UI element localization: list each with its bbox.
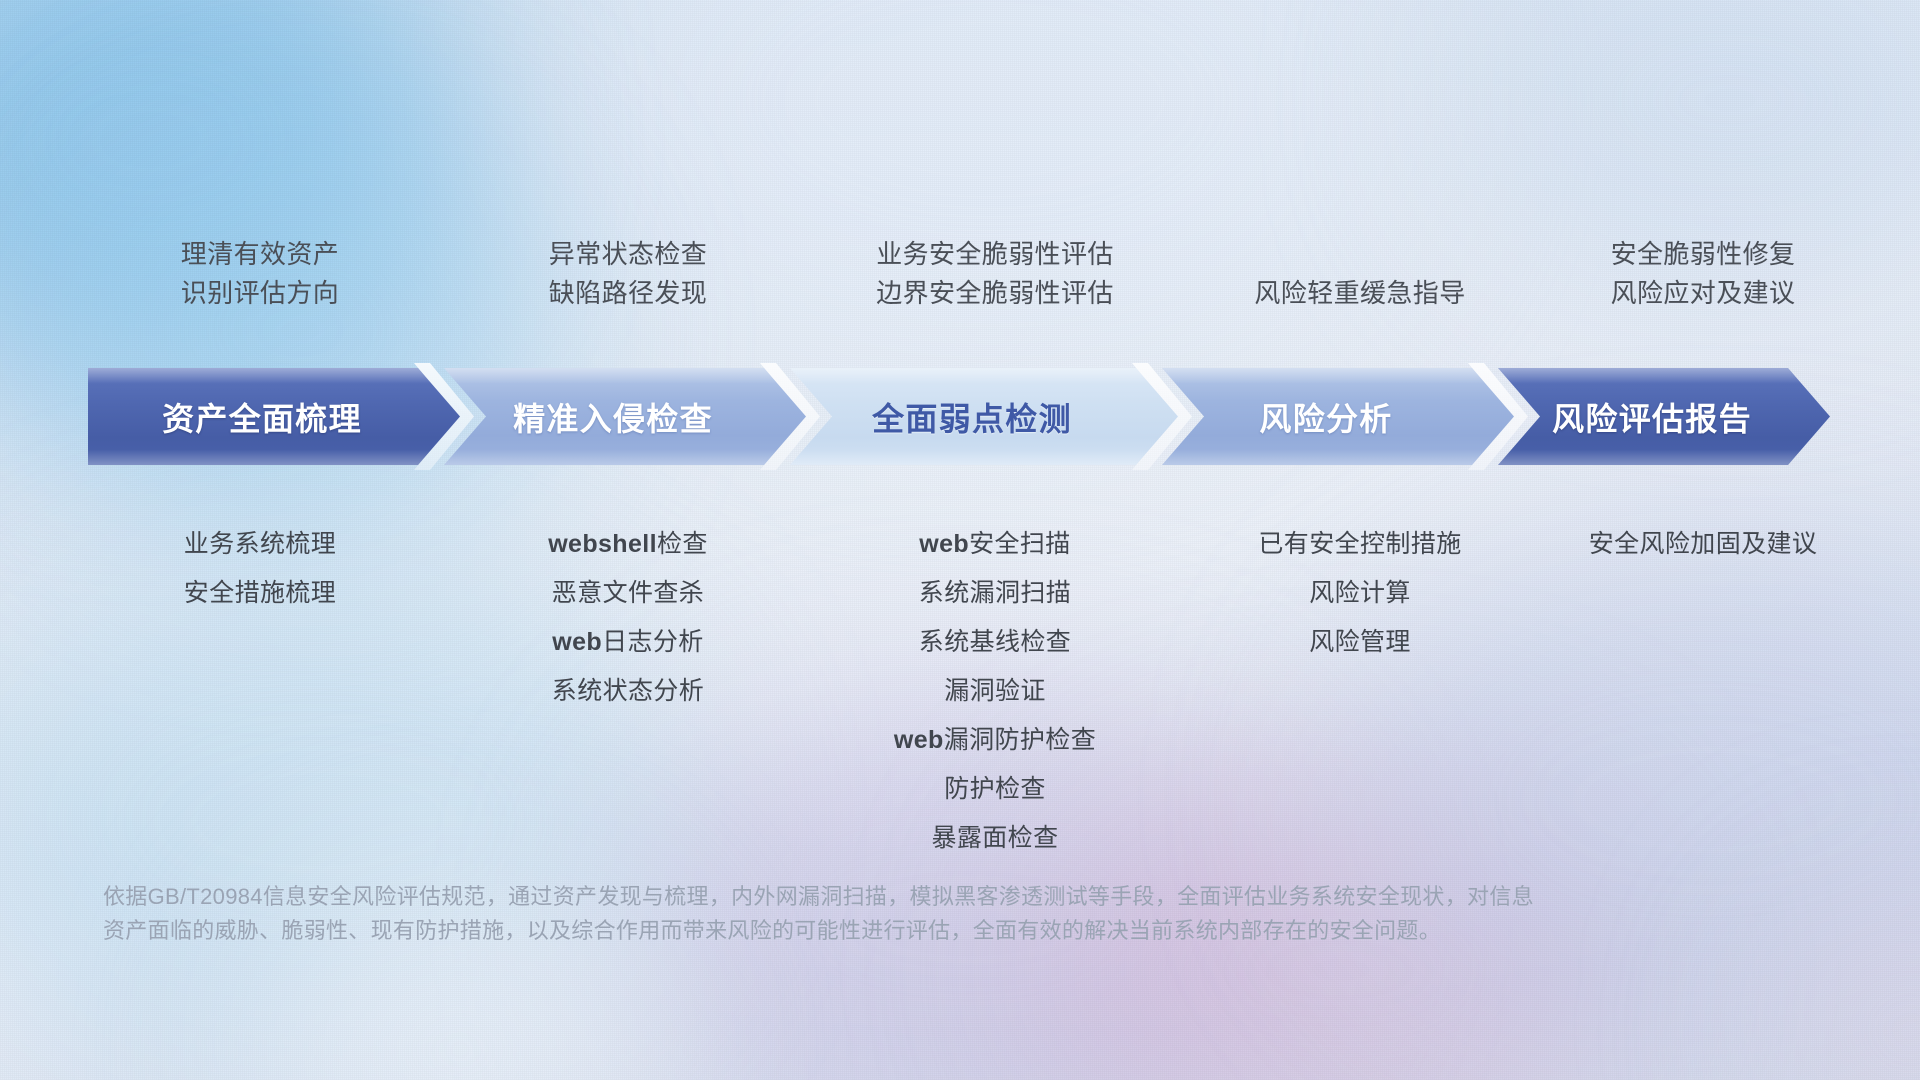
arrow-label: 全面弱点检测 (872, 394, 1072, 440)
process-arrow-intrusion-check[interactable]: 精准入侵检查 (444, 368, 806, 465)
list-item: 风险管理 (1184, 618, 1536, 667)
footer-description: 依据GB/T20984信息安全风险评估规范，通过资产发现与梳理，内外网漏洞扫描，… (103, 880, 1743, 948)
arrow-label: 精准入侵检查 (513, 394, 713, 440)
stage-top-notes-3: 业务安全脆弱性评估 边界安全脆弱性评估 (806, 235, 1184, 313)
process-arrow-risk-report[interactable]: 风险评估报告 (1498, 368, 1830, 465)
process-arrow-band: 资产全面梳理 精准入侵检查 全面弱点检测 风险分析 风险评估报告 (88, 368, 1854, 465)
arrow-label: 风险评估报告 (1552, 394, 1752, 440)
list-item: 系统状态分析 (450, 667, 806, 716)
list-item: webshell检查 (450, 520, 806, 569)
list-item: 漏洞验证 (806, 667, 1184, 716)
stage-top-note: 风险应对及建议 (1536, 274, 1870, 313)
process-arrow-risk-analysis[interactable]: 风险分析 (1162, 368, 1514, 465)
stage-detail-list-4: 已有安全控制措施 风险计算 风险管理 (1184, 520, 1536, 667)
list-item: 恶意文件查杀 (450, 569, 806, 618)
stage-top-note: 识别评估方向 (70, 274, 450, 313)
footer-line: 依据GB/T20984信息安全风险评估规范，通过资产发现与梳理，内外网漏洞扫描，… (103, 880, 1743, 914)
stage-top-notes-4: 风险轻重缓急指导 (1184, 274, 1536, 313)
stage-detail-list-5: 安全风险加固及建议 (1536, 520, 1870, 569)
stage-detail-list-1: 业务系统梳理 安全措施梳理 (70, 520, 450, 618)
list-item: 系统基线检查 (806, 618, 1184, 667)
stage-detail-list-3: web安全扫描 系统漏洞扫描 系统基线检查 漏洞验证 web漏洞防护检查 防护检… (806, 520, 1184, 863)
list-item: 防护检查 (806, 765, 1184, 814)
stage-detail-list-2: webshell检查 恶意文件查杀 web日志分析 系统状态分析 (450, 520, 806, 716)
list-item: web日志分析 (450, 618, 806, 667)
list-item: 业务系统梳理 (70, 520, 450, 569)
stage-top-note: 缺陷路径发现 (450, 274, 806, 313)
list-item: 风险计算 (1184, 569, 1536, 618)
arrow-label: 资产全面梳理 (162, 394, 362, 440)
stage-top-notes-2: 异常状态检查 缺陷路径发现 (450, 235, 806, 313)
list-item: 安全措施梳理 (70, 569, 450, 618)
footer-line: 资产面临的威胁、脆弱性、现有防护措施，以及综合作用而带来风险的可能性进行评估，全… (103, 914, 1743, 948)
list-item: 已有安全控制措施 (1184, 520, 1536, 569)
stage-top-note: 异常状态检查 (450, 235, 806, 274)
stage-top-notes-5: 安全脆弱性修复 风险应对及建议 (1536, 235, 1870, 313)
list-item: web安全扫描 (806, 520, 1184, 569)
stage-top-note: 风险轻重缓急指导 (1184, 274, 1536, 313)
process-diagram: 理清有效资产 识别评估方向 业务系统梳理 安全措施梳理 异常状态检查 缺陷路径发… (0, 0, 1920, 1080)
process-arrow-asset-inventory[interactable]: 资产全面梳理 (88, 368, 460, 465)
stage-top-note: 安全脆弱性修复 (1536, 235, 1870, 274)
stage-top-note: 边界安全脆弱性评估 (806, 274, 1184, 313)
arrow-label: 风险分析 (1259, 394, 1392, 440)
stage-top-note: 理清有效资产 (70, 235, 450, 274)
list-item: web漏洞防护检查 (806, 716, 1184, 765)
process-arrow-weakness-detection[interactable]: 全面弱点检测 (790, 368, 1178, 465)
stage-top-note: 业务安全脆弱性评估 (806, 235, 1184, 274)
list-item: 暴露面检查 (806, 814, 1184, 863)
stage-top-notes-1: 理清有效资产 识别评估方向 (70, 235, 450, 313)
list-item: 系统漏洞扫描 (806, 569, 1184, 618)
list-item: 安全风险加固及建议 (1536, 520, 1870, 569)
